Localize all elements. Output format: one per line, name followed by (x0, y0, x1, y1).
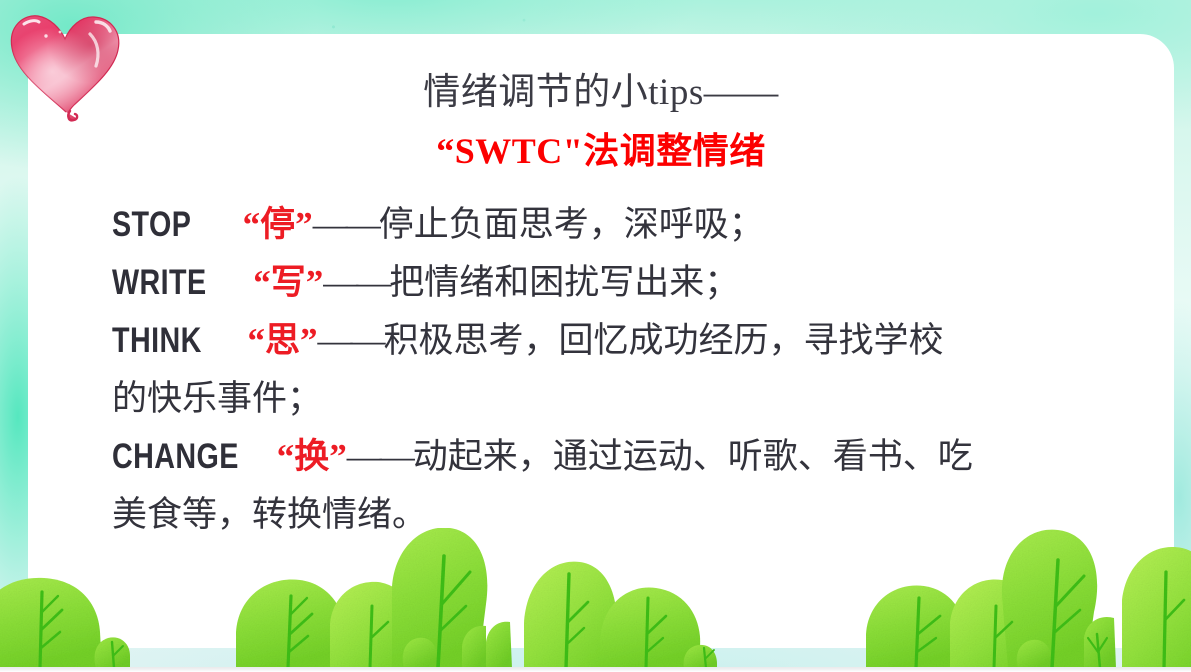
slide-canvas: 情绪调节的小tips—— “SWTC"法调整情绪 STOP“停”——停止负面思考… (0, 0, 1191, 672)
tip-dash-write: —— (323, 263, 389, 302)
tip-line-stop: STOP“停”——停止负面思考，深呼吸； (112, 196, 1122, 254)
tip-dash-stop: —— (313, 205, 379, 244)
tip-keyword-en-think: THINK (112, 312, 202, 370)
page-title: 情绪调节的小tips—— (28, 70, 1174, 116)
tip-keyword-cn-stop: “停” (243, 205, 313, 244)
tip-dash-change: —— (347, 437, 413, 476)
tip-dash-think: —— (317, 321, 383, 360)
tip-keyword-en-stop: STOP (112, 196, 191, 254)
tip-line-think-continuation: 的快乐事件； (112, 370, 1122, 428)
tip-line-change-continuation: 美食等，转换情绪。 (112, 486, 1122, 544)
tip-line-write: WRITE“写”——把情绪和困扰写出来； (112, 254, 1122, 312)
tip-text-stop: 停止负面思考，深呼吸； (379, 205, 764, 244)
tip-line-change: CHANGE“换”——动起来，通过运动、听歌、看书、吃 (112, 428, 1122, 486)
tip-text-think: 积极思考，回忆成功经历，寻找学校 (383, 321, 943, 360)
tip-keyword-en-change: CHANGE (112, 428, 239, 486)
tip-text-change-continuation: 美食等，转换情绪。 (112, 495, 427, 534)
page-subtitle: “SWTC"法调整情绪 (28, 130, 1174, 172)
tip-keyword-cn-think: “思” (247, 321, 317, 360)
tip-keyword-cn-change: “换” (277, 437, 347, 476)
tips-list: STOP“停”——停止负面思考，深呼吸； WRITE“写”——把情绪和困扰写出来… (112, 196, 1122, 544)
tip-line-think: THINK“思”——积极思考，回忆成功经历，寻找学校 (112, 312, 1122, 370)
tip-keyword-cn-write: “写” (253, 263, 323, 302)
tip-text-think-continuation: 的快乐事件； (112, 379, 322, 418)
tip-text-change: 动起来，通过运动、听歌、看书、吃 (413, 437, 973, 476)
tip-text-write: 把情绪和困扰写出来； (389, 263, 739, 302)
bottom-edge-strip (0, 667, 1191, 672)
tip-keyword-en-write: WRITE (112, 254, 207, 312)
title-block: 情绪调节的小tips—— “SWTC"法调整情绪 (28, 70, 1174, 172)
